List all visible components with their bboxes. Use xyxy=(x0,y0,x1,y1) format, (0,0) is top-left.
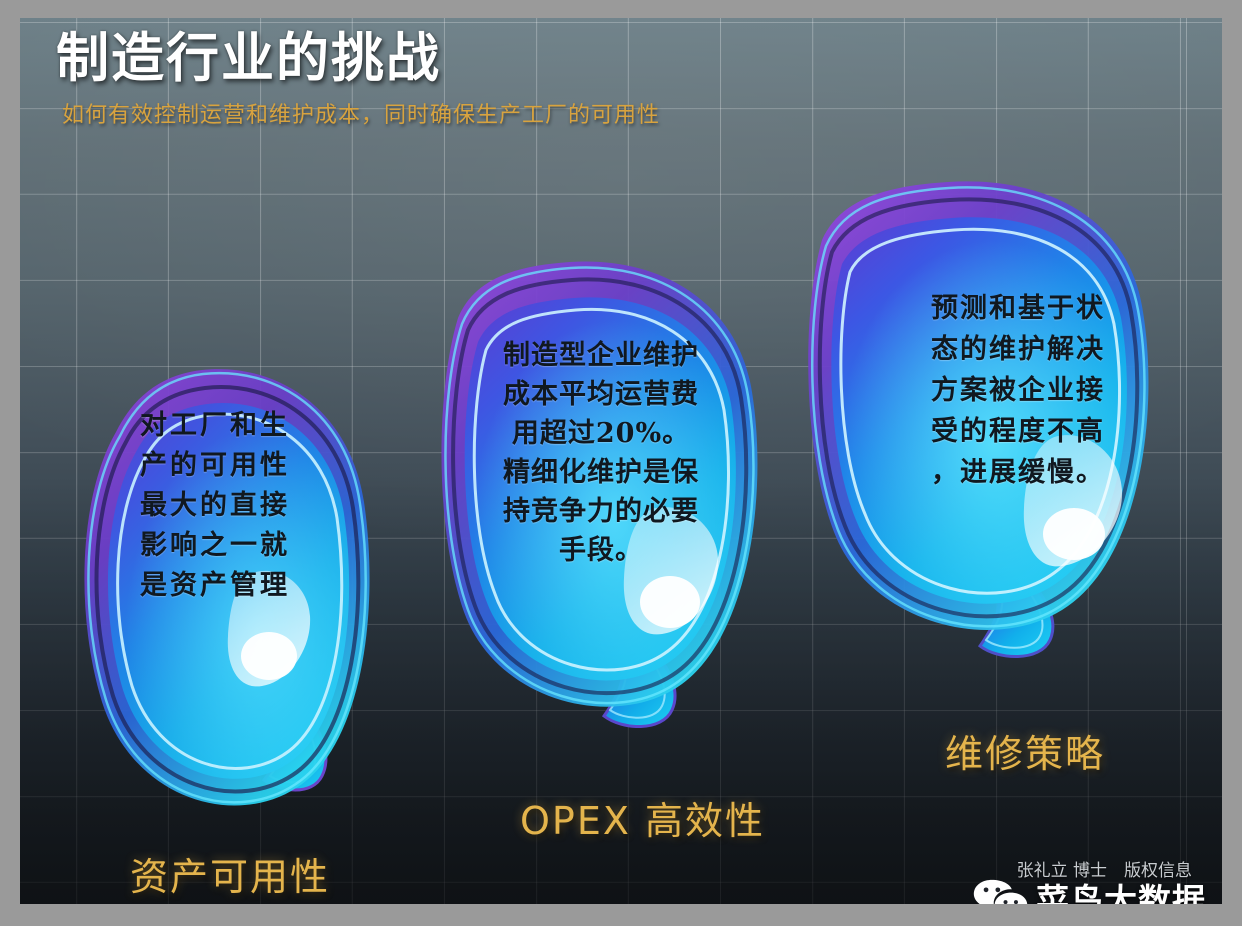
slide-stage: 制造行业的挑战 如何有效控制运营和维护成本，同时确保生产工厂的可用性 xyxy=(20,18,1222,904)
speech-bubble-opex-efficiency[interactable]: 制造型企业维护 成本平均运营费 用超过20%。 精细化维护是保 持竞争力的必要 … xyxy=(420,240,780,780)
caption-opex-efficiency: OPEX 高效性 xyxy=(520,790,765,845)
bubble-shape-3 xyxy=(790,168,1190,718)
bubble-shape-2 xyxy=(420,240,780,780)
speech-bubble-maintenance-strategy[interactable]: 预测和基于状 态的维护解决 方案被企业接 受的程度不高 ，进展缓慢。 xyxy=(790,168,1190,718)
watermark-brand: 菜鸟大数据 xyxy=(972,874,1206,904)
caption-asset-availability: 资产可用性 xyxy=(130,846,330,901)
page-subtitle: 如何有效控制运营和维护成本，同时确保生产工厂的可用性 xyxy=(62,97,1202,129)
page-title: 制造行业的挑战 xyxy=(56,30,1202,87)
bubble-shape-1 xyxy=(50,310,380,830)
slide-header: 制造行业的挑战 如何有效控制运营和维护成本，同时确保生产工厂的可用性 xyxy=(56,30,1202,129)
watermark-brand-label: 菜鸟大数据 xyxy=(1036,874,1206,904)
speech-bubble-asset-availability[interactable]: 对工厂和生 产的可用性 最大的直接 影响之一就 是资产管理 xyxy=(50,310,380,830)
wechat-icon xyxy=(972,876,1030,904)
slide-frame: 制造行业的挑战 如何有效控制运营和维护成本，同时确保生产工厂的可用性 xyxy=(0,0,1242,926)
caption-maintenance-strategy: 维修策略 xyxy=(945,723,1105,778)
